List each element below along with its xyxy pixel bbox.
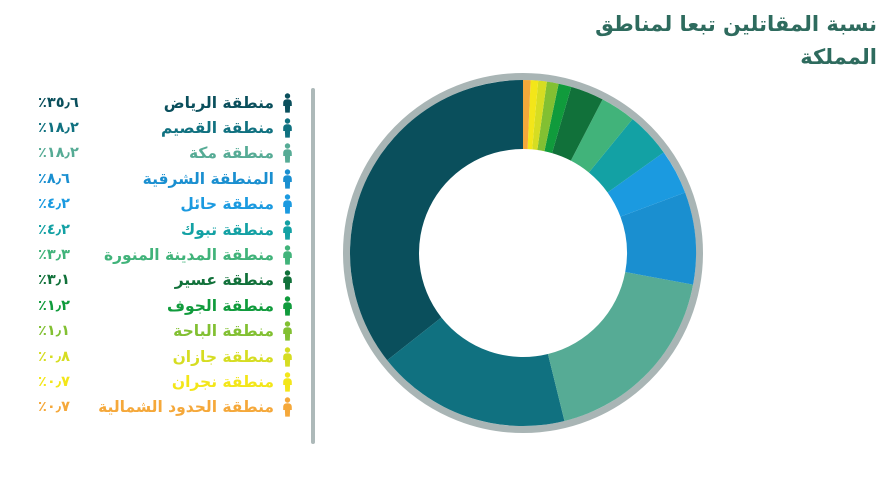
page-title-line-1: نسبة المقاتلين تبعا لمناطق: [577, 8, 877, 41]
person-icon: [278, 347, 296, 367]
legend-item[interactable]: منطقة مكة٪١٨٫٢: [38, 141, 296, 166]
legend-item-label: منطقة الحدود الشمالية: [96, 398, 278, 416]
legend-item-label: منطقة تبوك: [96, 221, 278, 239]
legend-item-label: منطقة الباحة: [96, 322, 278, 340]
legend-item-label: منطقة المدينة المنورة: [96, 246, 278, 264]
person-icon: [278, 321, 296, 341]
legend-item-label: منطقة عسير: [96, 271, 278, 289]
legend: منطقة الرياض٪٣٥٫٦منطقة القصيم٪١٨٫٢منطقة …: [38, 90, 296, 420]
legend-item[interactable]: المنطقة الشرقية٪٨٫٦: [38, 166, 296, 191]
donut-chart-svg: [342, 72, 704, 434]
legend-item[interactable]: منطقة عسير٪٣٫١: [38, 268, 296, 293]
legend-item-label: منطقة جازان: [96, 348, 278, 366]
legend-item[interactable]: منطقة نجران٪٠٫٧: [38, 369, 296, 394]
legend-item-value: ٪٠٫٧: [38, 399, 96, 415]
legend-item-label: منطقة القصيم: [96, 119, 278, 137]
person-icon: [278, 245, 296, 265]
legend-item[interactable]: منطقة الرياض٪٣٥٫٦: [38, 90, 296, 115]
legend-item-label: منطقة حائل: [96, 195, 278, 213]
legend-item-value: ٪٣٥٫٦: [38, 95, 96, 111]
legend-item-value: ٪٠٫٨: [38, 349, 96, 365]
donut-chart: [342, 72, 704, 434]
legend-item[interactable]: منطقة الباحة٪١٫١: [38, 319, 296, 344]
legend-item[interactable]: منطقة حائل٪٤٫٢: [38, 192, 296, 217]
legend-item[interactable]: منطقة الجوف٪١٫٢: [38, 293, 296, 318]
legend-item-label: منطقة مكة: [96, 144, 278, 162]
person-icon: [278, 169, 296, 189]
legend-item-value: ٪١٨٫٢: [38, 145, 96, 161]
person-icon: [278, 220, 296, 240]
legend-item[interactable]: منطقة القصيم٪١٨٫٢: [38, 115, 296, 140]
legend-item-value: ٪٤٫٢: [38, 222, 96, 238]
person-icon: [278, 143, 296, 163]
legend-item[interactable]: منطقة الحدود الشمالية٪٠٫٧: [38, 395, 296, 420]
legend-item-value: ٪٠٫٧: [38, 374, 96, 390]
donut-segment[interactable]: [350, 80, 523, 360]
page-title: نسبة المقاتلين تبعا لمناطق المملكة: [577, 8, 877, 73]
legend-item-label: المنطقة الشرقية: [96, 170, 278, 188]
person-icon: [278, 93, 296, 113]
person-icon: [278, 372, 296, 392]
person-icon: [278, 270, 296, 290]
legend-item-label: منطقة نجران: [96, 373, 278, 391]
legend-item-value: ٪٨٫٦: [38, 171, 96, 187]
legend-item[interactable]: منطقة جازان٪٠٫٨: [38, 344, 296, 369]
vertical-divider: [311, 88, 315, 444]
legend-item-value: ٪٣٫١: [38, 272, 96, 288]
person-icon: [278, 118, 296, 138]
legend-item[interactable]: منطقة المدينة المنورة٪٣٫٣: [38, 242, 296, 267]
person-icon: [278, 194, 296, 214]
page-title-line-2: المملكة: [577, 41, 877, 74]
legend-item-value: ٪١٫٢: [38, 298, 96, 314]
legend-item-value: ٪٤٫٢: [38, 196, 96, 212]
legend-item[interactable]: منطقة تبوك٪٤٫٢: [38, 217, 296, 242]
legend-item-label: منطقة الرياض: [96, 94, 278, 112]
legend-item-value: ٪١٨٫٢: [38, 120, 96, 136]
infographic-page: نسبة المقاتلين تبعا لمناطق المملكة منطقة…: [0, 0, 895, 503]
legend-item-value: ٪١٫١: [38, 323, 96, 339]
person-icon: [278, 397, 296, 417]
legend-item-label: منطقة الجوف: [96, 297, 278, 315]
person-icon: [278, 296, 296, 316]
legend-item-value: ٪٣٫٣: [38, 247, 96, 263]
